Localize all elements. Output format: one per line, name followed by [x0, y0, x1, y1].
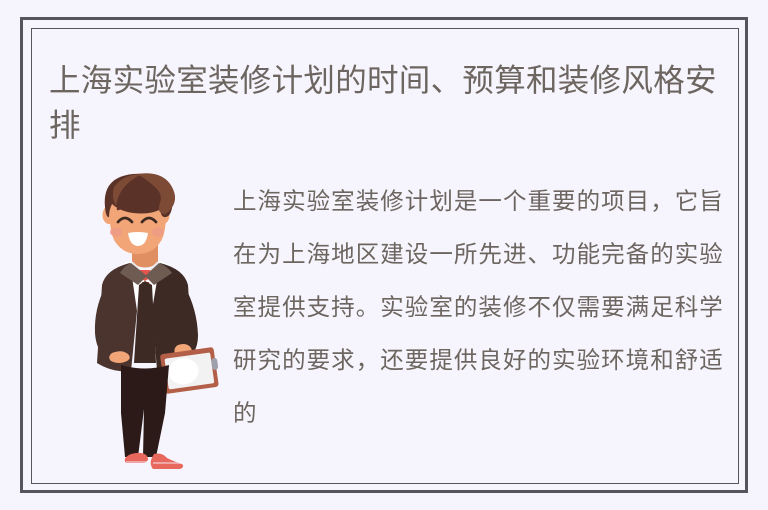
businessman-illustration	[75, 169, 225, 469]
article-paragraph: 上海实验室装修计划是一个重要的项目，它旨在为上海地区建设一所先进、功能完备的实验…	[233, 175, 723, 440]
businessman-icon	[75, 169, 225, 469]
article-body-row: 上海实验室装修计划是一个重要的项目，它旨在为上海地区建设一所先进、功能完备的实验…	[49, 169, 723, 469]
page-title: 上海实验室装修计划的时间、预算和装修风格安排	[49, 58, 739, 148]
article-content: 上海实验室装修计划的时间、预算和装修风格安排	[31, 28, 739, 484]
page-canvas: 上海实验室装修计划的时间、预算和装修风格安排	[0, 0, 768, 510]
